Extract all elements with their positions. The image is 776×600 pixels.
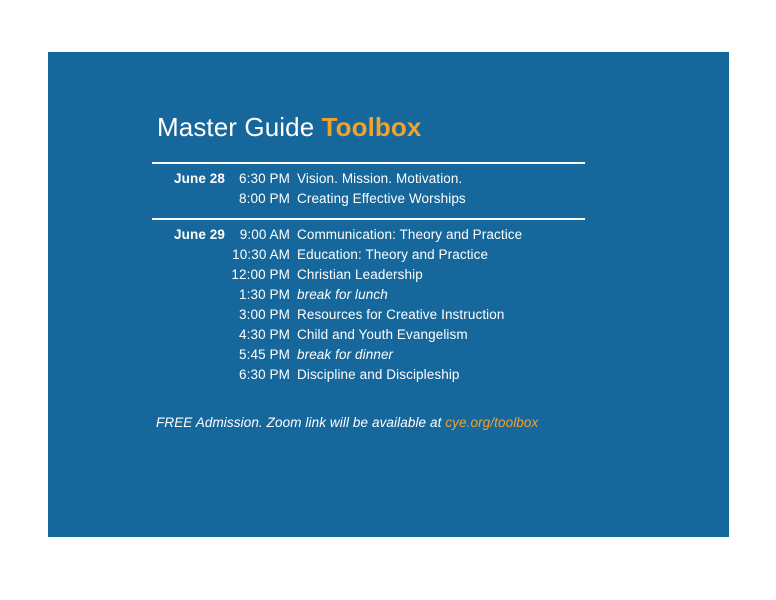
- schedule-row: 1:30 PMbreak for lunch: [152, 287, 586, 307]
- schedule-row: 6:30 PMDiscipline and Discipleship: [152, 367, 586, 387]
- page-title-main: Master Guide: [157, 112, 322, 142]
- schedule-row-title: Education: Theory and Practice: [290, 247, 586, 262]
- schedule-row: 8:00 PMCreating Effective Worships: [152, 191, 586, 211]
- schedule-block-june-28: June 286:30 PMVision. Mission. Motivatio…: [152, 162, 586, 211]
- schedule-row-title: Child and Youth Evangelism: [290, 327, 586, 342]
- page-title: Master Guide Toolbox: [157, 112, 421, 142]
- schedule-row-title: Resources for Creative Instruction: [290, 307, 586, 322]
- footer-link[interactable]: cye.org/toolbox: [445, 415, 538, 430]
- schedule-row-time: 9:00 AM: [225, 227, 290, 242]
- schedule-row-title: Creating Effective Worships: [290, 191, 586, 206]
- schedule-row-date: June 28: [152, 171, 225, 186]
- schedule-divider: [152, 218, 585, 220]
- schedule-block-june-29: June 299:00 AMCommunication: Theory and …: [152, 218, 586, 387]
- schedule-divider: [152, 162, 585, 164]
- schedule-row: 4:30 PMChild and Youth Evangelism: [152, 327, 586, 347]
- schedule-row: 10:30 AMEducation: Theory and Practice: [152, 247, 586, 267]
- schedule-row: June 299:00 AMCommunication: Theory and …: [152, 227, 586, 247]
- schedule-row-time: 4:30 PM: [225, 327, 290, 342]
- schedule-row-title: Christian Leadership: [290, 267, 586, 282]
- schedule-row: 3:00 PMResources for Creative Instructio…: [152, 307, 586, 327]
- schedule-row-title: break for lunch: [290, 287, 586, 302]
- schedule-rows: June 286:30 PMVision. Mission. Motivatio…: [152, 171, 586, 211]
- schedule-row-date: June 29: [152, 227, 225, 242]
- page-title-accent: Toolbox: [322, 112, 422, 142]
- schedule-row-time: 12:00 PM: [225, 267, 290, 282]
- footer-note: FREE Admission. Zoom link will be availa…: [156, 415, 538, 430]
- schedule-row-title: Vision. Mission. Motivation.: [290, 171, 586, 186]
- schedule-row-time: 10:30 AM: [225, 247, 290, 262]
- schedule-row: June 286:30 PMVision. Mission. Motivatio…: [152, 171, 586, 191]
- schedule-row-title: break for dinner: [290, 347, 586, 362]
- schedule-row-time: 6:30 PM: [225, 367, 290, 382]
- schedule-row-time: 8:00 PM: [225, 191, 290, 206]
- schedule-row: 5:45 PMbreak for dinner: [152, 347, 586, 367]
- schedule-row-title: Communication: Theory and Practice: [290, 227, 586, 242]
- slide-page: Master Guide Toolbox June 286:30 PMVisio…: [0, 0, 776, 600]
- slide-panel: Master Guide Toolbox June 286:30 PMVisio…: [48, 52, 729, 537]
- footer-text: FREE Admission. Zoom link will be availa…: [156, 415, 445, 430]
- schedule-row-title: Discipline and Discipleship: [290, 367, 586, 382]
- schedule-rows: June 299:00 AMCommunication: Theory and …: [152, 227, 586, 387]
- schedule-row-time: 3:00 PM: [225, 307, 290, 322]
- schedule-row-time: 1:30 PM: [225, 287, 290, 302]
- schedule-row-time: 6:30 PM: [225, 171, 290, 186]
- schedule-row-time: 5:45 PM: [225, 347, 290, 362]
- schedule-row: 12:00 PMChristian Leadership: [152, 267, 586, 287]
